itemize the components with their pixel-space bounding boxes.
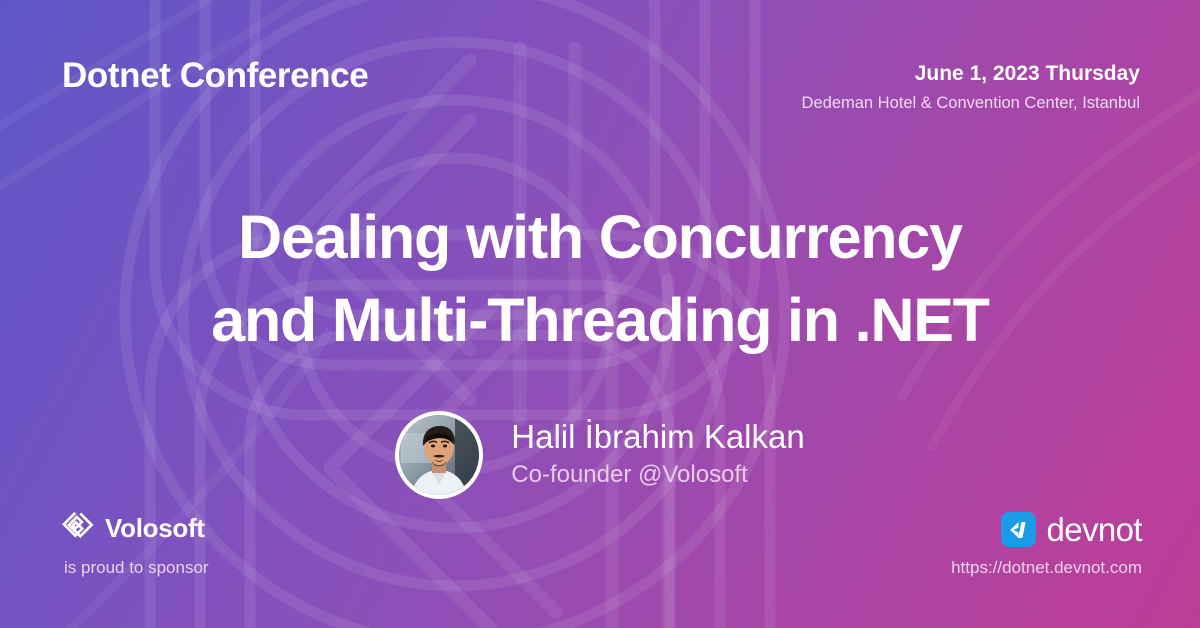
conference-session-banner: Dotnet Conference June 1, 2023 Thursday … <box>0 0 1200 628</box>
volosoft-spiral-icon <box>62 509 95 547</box>
devnot-arrow-icon <box>1001 512 1036 547</box>
speaker-name: Halil İbrahim Kalkan <box>511 418 804 457</box>
event-date: June 1, 2023 Thursday <box>802 61 1140 87</box>
devnot-logo[interactable]: devnot <box>951 512 1142 547</box>
session-title-line-2: and Multi-Threading in .NET <box>40 279 1160 362</box>
sponsor-block: Volosoft is proud to sponsor <box>62 509 209 576</box>
devnot-url[interactable]: https://dotnet.devnot.com <box>951 559 1142 576</box>
devnot-name: devnot <box>1047 513 1142 546</box>
sponsor-logo: Volosoft <box>62 509 209 547</box>
session-title-line-1: Dealing with Concurrency <box>40 196 1160 279</box>
brand-title: Dotnet Conference <box>62 58 368 93</box>
sponsor-tagline: is proud to sponsor <box>64 559 209 576</box>
speaker-text: Halil İbrahim Kalkan Co-founder @Volosof… <box>511 418 804 493</box>
event-meta: June 1, 2023 Thursday Dedeman Hotel & Co… <box>802 58 1140 115</box>
sponsor-name: Volosoft <box>105 515 205 541</box>
banner-header: Dotnet Conference June 1, 2023 Thursday … <box>0 0 1200 150</box>
event-venue: Dedeman Hotel & Convention Center, Istan… <box>802 93 1140 114</box>
speaker-role: Co-founder @Volosoft <box>511 460 804 490</box>
speaker-block: Halil İbrahim Kalkan Co-founder @Volosof… <box>0 411 1200 499</box>
avatar <box>395 411 483 499</box>
organizer-block: devnot https://dotnet.devnot.com <box>951 512 1142 576</box>
session-title: Dealing with Concurrency and Multi-Threa… <box>0 196 1200 362</box>
